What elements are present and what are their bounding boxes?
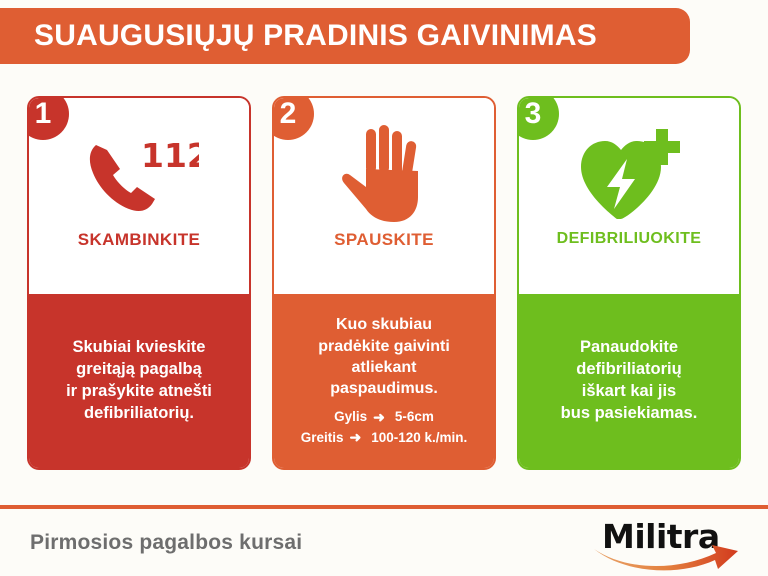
header-banner: SUAUGUSIŲJŲ PRADINIS GAIVINIMAS (0, 8, 690, 64)
hand-icon (336, 120, 432, 230)
body-line: defibriliatorių (561, 359, 698, 381)
body-line: Panaudokite (561, 337, 698, 359)
body-line: greitąją pagalbą (66, 359, 212, 381)
body-line: defibriliatorių. (66, 403, 212, 425)
body-line: iškart kai jis (561, 381, 698, 403)
detail-row-depth: Gylis ➜ 5-6cm (284, 407, 484, 427)
svg-text:112: 112 (141, 136, 199, 175)
card-body-text-2: Kuo skubiau pradėkite gaivinti atliekant… (318, 314, 450, 398)
card-body-1: Skubiai kvieskite greitąją pagalbą ir pr… (29, 294, 249, 468)
detail-row-rate: Greitis ➜ 100-120 k./min. (284, 427, 484, 447)
militra-logo: Militra (592, 515, 742, 571)
body-line: Kuo skubiau (318, 314, 450, 335)
detail-label: Greitis (301, 428, 344, 448)
card-body-3: Panaudokite defibriliatorių iškart kai j… (519, 294, 739, 468)
compression-details: Gylis ➜ 5-6cm Greitis ➜ 100-120 k./min. (284, 407, 484, 448)
step-card-1: 1 112 SKAMBINKITE Skubiai kvieskite grei… (27, 96, 251, 470)
swoosh-arrow-icon (592, 535, 742, 571)
body-line: pradėkite gaivinti (318, 336, 450, 357)
footer-caption: Pirmosios pagalbos kursai (30, 531, 302, 555)
step-card-3: 3 DEFIBRILIUOKITE Panaudokite defibrilia… (517, 96, 741, 470)
card-title-1: SKAMBINKITE (78, 230, 200, 250)
card-title-2: SPAUSKITE (334, 230, 434, 250)
page-title: SUAUGUSIŲJŲ PRADINIS GAIVINIMAS (0, 19, 597, 53)
card-body-text-1: Skubiai kvieskite greitąją pagalbą ir pr… (66, 337, 212, 424)
arrow-icon: ➜ (371, 407, 387, 427)
body-line: paspaudimus. (318, 378, 450, 399)
arrow-icon: ➜ (347, 427, 363, 447)
detail-label: Gylis (334, 407, 367, 427)
body-line: Skubiai kvieskite (66, 337, 212, 359)
step-card-2: 2 SPAUSKITE Kuo skubiau pradėkite gai (272, 96, 496, 470)
body-line: bus pasiekiamas. (561, 403, 698, 425)
detail-value: 100-120 k./min. (367, 428, 467, 448)
card-body-text-3: Panaudokite defibriliatorių iškart kai j… (561, 337, 698, 424)
phone-112-icon: 112 (79, 120, 199, 230)
detail-value: 5-6cm (391, 407, 434, 427)
defibrillator-heart-icon (573, 120, 685, 230)
body-line: atliekant (318, 357, 450, 378)
steps-container: 1 112 SKAMBINKITE Skubiai kvieskite grei… (0, 96, 768, 476)
body-line: ir prašykite atnešti (66, 381, 212, 403)
card-body-2: Kuo skubiau pradėkite gaivinti atliekant… (274, 294, 494, 468)
card-title-3: DEFIBRILIUOKITE (557, 230, 702, 248)
footer: Pirmosios pagalbos kursai Militra (0, 509, 768, 576)
